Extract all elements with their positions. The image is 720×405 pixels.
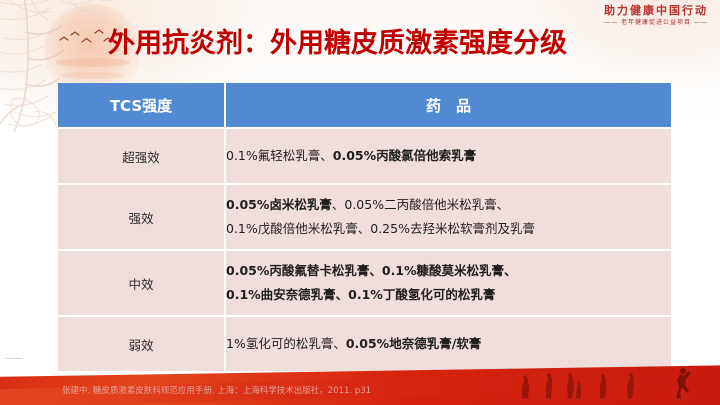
drug-text-segment: 1%氢化可的松乳膏、 bbox=[226, 336, 346, 351]
drug-text-segment: 0.05%丙酸氟替卡松乳膏、0.1%糠酸莫米松乳膏、 bbox=[226, 263, 517, 278]
potency-grade-cell: 中效 bbox=[58, 249, 226, 315]
drug-line: 0.05%丙酸氟替卡松乳膏、0.1%糠酸莫米松乳膏、 bbox=[226, 265, 671, 278]
corner-mark bbox=[6, 358, 22, 359]
source-citation: 张建中. 糖皮质激素皮肤科规范应用手册. 上海：上海科学技术出版社，2011. … bbox=[62, 384, 371, 396]
table-row: 强效0.05%卤米松乳膏、0.05%二丙酸倍他米松乳膏、0.1%戊酸倍他米松乳膏… bbox=[58, 183, 671, 249]
campaign-logo: 助力健康中国行动 —— 老年健康促进公益项目 —— bbox=[604, 5, 708, 26]
table-body: 超强效0.1%氟轻松乳膏、0.05%丙酸氯倍他索乳膏强效0.05%卤米松乳膏、0… bbox=[58, 127, 671, 371]
drug-line: 0.05%卤米松乳膏、0.05%二丙酸倍他米松乳膏、 bbox=[226, 199, 671, 212]
drug-line: 0.1%戊酸倍他米松乳膏、0.25%去羟米松软膏剂及乳膏 bbox=[226, 223, 671, 236]
drug-text-segment: 0.05%丙酸氯倍他索乳膏 bbox=[333, 148, 476, 163]
logo-sub-text: —— 老年健康促进公益项目 —— bbox=[604, 20, 708, 26]
drug-line: 1%氢化可的松乳膏、0.05%地奈德乳膏/软膏 bbox=[226, 338, 671, 351]
table-header-row: TCS强度 药 品 bbox=[58, 83, 671, 127]
slide-canvas: 助力健康中国行动 —— 老年健康促进公益项目 —— 外用抗炎剂：外用糖皮质激素强… bbox=[0, 0, 720, 405]
footer-band: 张建中. 糖皮质激素皮肤科规范应用手册. 上海：上海科学技术出版社，2011. … bbox=[0, 361, 720, 405]
drug-text-segment: 0.05%地奈德乳膏/软膏 bbox=[346, 336, 481, 351]
drug-text-segment: 、0.05%二丙酸倍他米松乳膏、 bbox=[332, 197, 509, 212]
drug-text-segment: 0.1%氟轻松乳膏、 bbox=[226, 148, 333, 163]
drug-list-cell: 0.05%卤米松乳膏、0.05%二丙酸倍他米松乳膏、0.1%戊酸倍他米松乳膏、0… bbox=[226, 183, 671, 249]
table-row: 超强效0.1%氟轻松乳膏、0.05%丙酸氯倍他索乳膏 bbox=[58, 127, 671, 183]
drug-text-segment: 0.1%戊酸倍他米松乳膏、0.25%去羟米松软膏剂及乳膏 bbox=[226, 221, 535, 236]
page-title: 外用抗炎剂：外用糖皮质激素强度分级 bbox=[108, 21, 567, 60]
drug-text-segment: 0.1%曲安奈德乳膏、0.1%丁酸氢化可的松乳膏 bbox=[226, 287, 495, 302]
drug-list-cell: 0.1%氟轻松乳膏、0.05%丙酸氯倍他索乳膏 bbox=[226, 127, 671, 183]
column-header-potency: TCS强度 bbox=[58, 83, 226, 127]
tcs-potency-table: TCS强度 药 品 超强效0.1%氟轻松乳膏、0.05%丙酸氯倍他索乳膏强效0.… bbox=[58, 83, 671, 371]
potency-grade-cell: 强效 bbox=[58, 183, 226, 249]
walking-people-icon bbox=[516, 365, 712, 399]
table-row: 中效0.05%丙酸氟替卡松乳膏、0.1%糠酸莫米松乳膏、0.1%曲安奈德乳膏、0… bbox=[58, 249, 671, 315]
drug-line: 0.1%氟轻松乳膏、0.05%丙酸氯倍他索乳膏 bbox=[226, 150, 671, 163]
drug-line: 0.1%曲安奈德乳膏、0.1%丁酸氢化可的松乳膏 bbox=[226, 289, 671, 302]
logo-main-text: 助力健康中国行动 bbox=[604, 5, 708, 16]
column-header-drug: 药 品 bbox=[226, 83, 671, 127]
potency-grade-cell: 超强效 bbox=[58, 127, 226, 183]
drug-list-cell: 0.05%丙酸氟替卡松乳膏、0.1%糠酸莫米松乳膏、0.1%曲安奈德乳膏、0.1… bbox=[226, 249, 671, 315]
drug-text-segment: 0.05%卤米松乳膏 bbox=[226, 197, 332, 212]
